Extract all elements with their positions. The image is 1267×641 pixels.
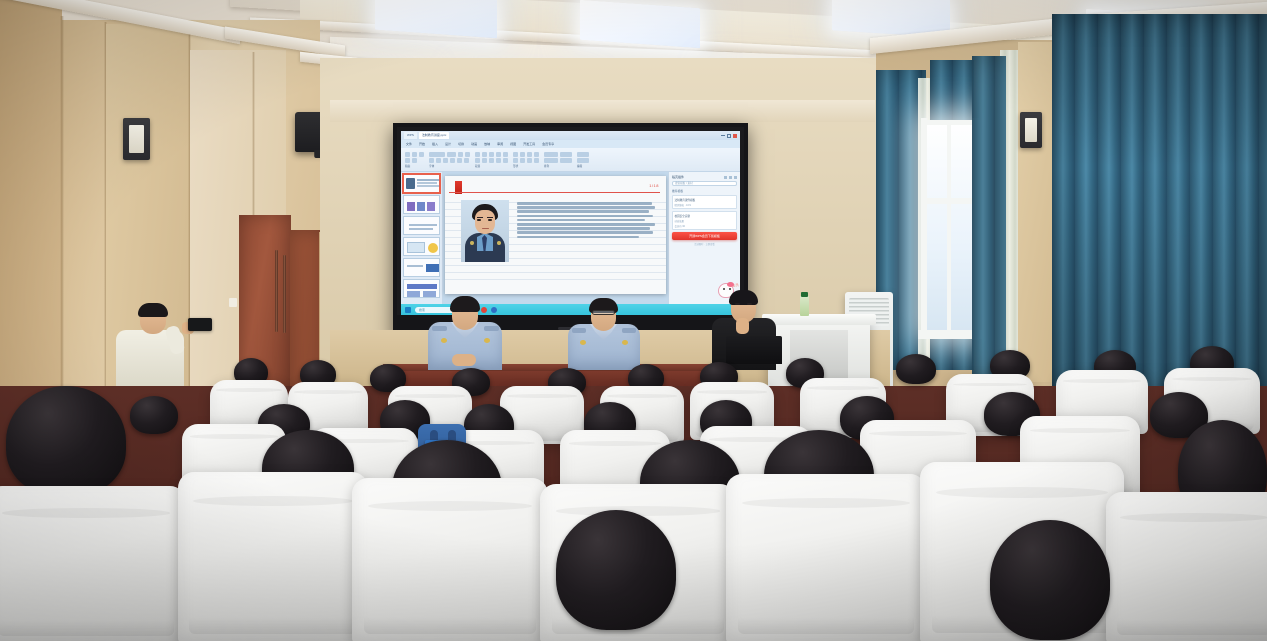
slide-thumbnail-panel[interactable]	[401, 172, 443, 315]
uniform-badge	[441, 338, 447, 343]
screen-content: WPS 法制教育讲座.pptx 文件 开始 插入 设计 切换 动画 放映 审阅 …	[401, 131, 740, 315]
laptop[interactable]	[726, 336, 782, 364]
ribbon-group-arrange[interactable]: 排列	[544, 152, 572, 168]
slide-thumbnail[interactable]	[403, 258, 440, 277]
eye	[747, 303, 752, 305]
lectern-top	[762, 314, 876, 325]
uniform-badge	[580, 340, 586, 345]
ribbon-group-label: 排列	[544, 164, 572, 168]
slide-thumbnail[interactable]	[403, 174, 440, 193]
ribbon-tab[interactable]: 开发工具	[523, 142, 535, 146]
door-handle[interactable]	[275, 250, 278, 332]
app-titlebar: WPS 法制教育讲座.pptx	[401, 131, 740, 140]
uniform-badge	[484, 338, 490, 343]
slide-canvas[interactable]: 1/18	[443, 172, 668, 315]
eye	[469, 310, 474, 312]
ribbon-tab[interactable]: 开始	[419, 142, 425, 146]
window-curtain[interactable]	[972, 56, 1006, 376]
eye	[735, 303, 740, 305]
back-wall-upper	[330, 100, 875, 122]
ribbon-tab-bar[interactable]: 文件 开始 插入 设计 切换 动画 放映 审阅 视图 开发工具 会员专享	[401, 140, 740, 148]
task-pane-header: 稻壳插件	[672, 175, 737, 179]
slide-thumbnail[interactable]	[403, 279, 440, 298]
audience-head	[896, 354, 936, 384]
wall-sconce	[123, 118, 150, 160]
police-officer-left-hair	[450, 296, 480, 312]
epaulet	[572, 328, 586, 333]
mail-icon[interactable]	[491, 307, 497, 313]
eye	[456, 310, 461, 312]
template-task-pane[interactable]: 稻壳插件 搜索模板 / 素材 推荐模板 法制教育课件模板 精美静态 · 16:9	[668, 172, 740, 315]
ribbon-tab[interactable]: 审阅	[497, 142, 503, 146]
window-mullion	[925, 198, 979, 204]
audience-chair	[726, 474, 926, 641]
audience-chair	[178, 472, 368, 641]
template-meta: 动态效果	[675, 219, 735, 223]
template-meta: 精美静态 · 16:9	[675, 203, 735, 207]
settings-icon[interactable]	[729, 176, 732, 179]
slide-divider-line	[449, 192, 660, 193]
ribbon-group-editing[interactable]: 编辑	[577, 152, 589, 168]
ribbon-tab[interactable]: 设计	[445, 142, 451, 146]
ribbon-tab[interactable]: 插入	[432, 142, 438, 146]
ribbon-group-shapes[interactable]: 形状	[513, 152, 539, 168]
start-button-icon[interactable]	[405, 307, 411, 313]
curtain-shadow	[1052, 14, 1267, 396]
ribbon-group-paste[interactable]: 粘贴	[405, 152, 424, 168]
water-bottle[interactable]	[800, 296, 809, 316]
task-pane-title: 稻壳插件	[672, 175, 684, 179]
ribbon-tab[interactable]: 放映	[484, 142, 490, 146]
ribbon-tab[interactable]: 视图	[510, 142, 516, 146]
slide-page-number: 1/18	[649, 183, 659, 188]
epaulet	[622, 328, 636, 333]
ribbon-toolbar[interactable]: 粘贴 字体 段落 形状	[401, 148, 740, 172]
eyeglasses	[592, 310, 615, 315]
epaulet	[432, 326, 447, 331]
epaulet	[484, 326, 499, 331]
wps-icon[interactable]	[481, 307, 487, 313]
app-tab-document[interactable]: 法制教育讲座.pptx	[419, 132, 450, 139]
window-mullion	[925, 120, 977, 125]
presentation-display[interactable]: WPS 法制教育讲座.pptx 文件 开始 插入 设计 切换 动画 放映 审阅 …	[393, 123, 748, 339]
upgrade-membership-button[interactable]: 开通WPS会员下载模板	[672, 232, 737, 240]
audience-head	[556, 510, 676, 630]
promo-note: 活动限时 · 立即查看	[672, 242, 737, 246]
door-handle[interactable]	[283, 255, 286, 333]
template-card[interactable]: 校园安全演讲 动态效果 会员价 ¥0	[672, 211, 737, 230]
close-icon[interactable]	[734, 176, 737, 179]
minimize-icon[interactable]	[721, 135, 725, 136]
ribbon-group-font[interactable]: 字体	[429, 152, 470, 168]
ribbon-group-label: 字体	[429, 164, 470, 168]
maximize-icon[interactable]	[727, 134, 731, 138]
audience-head	[990, 520, 1110, 640]
slide-body-text	[517, 202, 656, 238]
uniform-badge	[622, 340, 628, 345]
audience-head	[130, 396, 178, 434]
ribbon-tab[interactable]: 会员专享	[542, 142, 554, 146]
slide-portrait-photo	[461, 200, 509, 262]
template-card[interactable]: 法制教育课件模板 精美静态 · 16:9	[672, 195, 737, 209]
audience-chair	[1106, 492, 1267, 641]
window-mullion	[947, 122, 951, 334]
window	[925, 122, 977, 332]
refresh-icon[interactable]	[724, 176, 727, 179]
ribbon-group-paragraph[interactable]: 段落	[475, 152, 508, 168]
bottle-cap	[801, 292, 808, 297]
presenter-hand-on-chin	[736, 318, 749, 334]
template-price: 会员价 ¥0	[675, 224, 735, 228]
ribbon-tab[interactable]: 文件	[406, 142, 412, 146]
app-body: 1/18	[401, 172, 740, 315]
ceiling-light-panel	[580, 0, 700, 48]
audience-chair	[0, 486, 186, 641]
audience-head	[6, 386, 126, 496]
ribbon-group-label: 形状	[513, 164, 539, 168]
hands-clasped	[452, 354, 476, 366]
close-icon[interactable]	[733, 134, 737, 138]
task-pane-section-label: 推荐模板	[672, 189, 737, 193]
slide-thumbnail[interactable]	[403, 237, 440, 256]
audience-chair	[352, 478, 548, 641]
app-tab-wps[interactable]: WPS	[404, 132, 417, 139]
ribbon-group-label: 编辑	[577, 164, 589, 168]
template-name: 校园安全演讲	[675, 214, 735, 218]
window-frame	[921, 118, 927, 338]
presenter-hair	[729, 290, 758, 305]
template-name: 法制教育课件模板	[675, 198, 735, 202]
auditorium-scene: WPS 法制教育讲座.pptx 文件 开始 插入 设计 切换 动画 放映 审阅 …	[0, 0, 1267, 641]
ribbon-tab[interactable]: 动画	[471, 142, 477, 146]
light-switch[interactable]	[229, 298, 237, 307]
photographer-hair	[138, 303, 168, 317]
ribbon-group-label: 段落	[475, 164, 508, 168]
current-slide[interactable]: 1/18	[445, 176, 666, 294]
wall-sconce	[1020, 112, 1042, 148]
slide-thumbnail[interactable]	[403, 216, 440, 235]
ribbon-tab[interactable]: 切换	[458, 142, 464, 146]
smartphone[interactable]	[188, 318, 212, 331]
template-search-input[interactable]: 搜索模板 / 素材	[672, 181, 737, 186]
ribbon-group-label: 粘贴	[405, 164, 424, 168]
wall-seam	[60, 16, 64, 446]
slide-thumbnail[interactable]	[403, 195, 440, 214]
